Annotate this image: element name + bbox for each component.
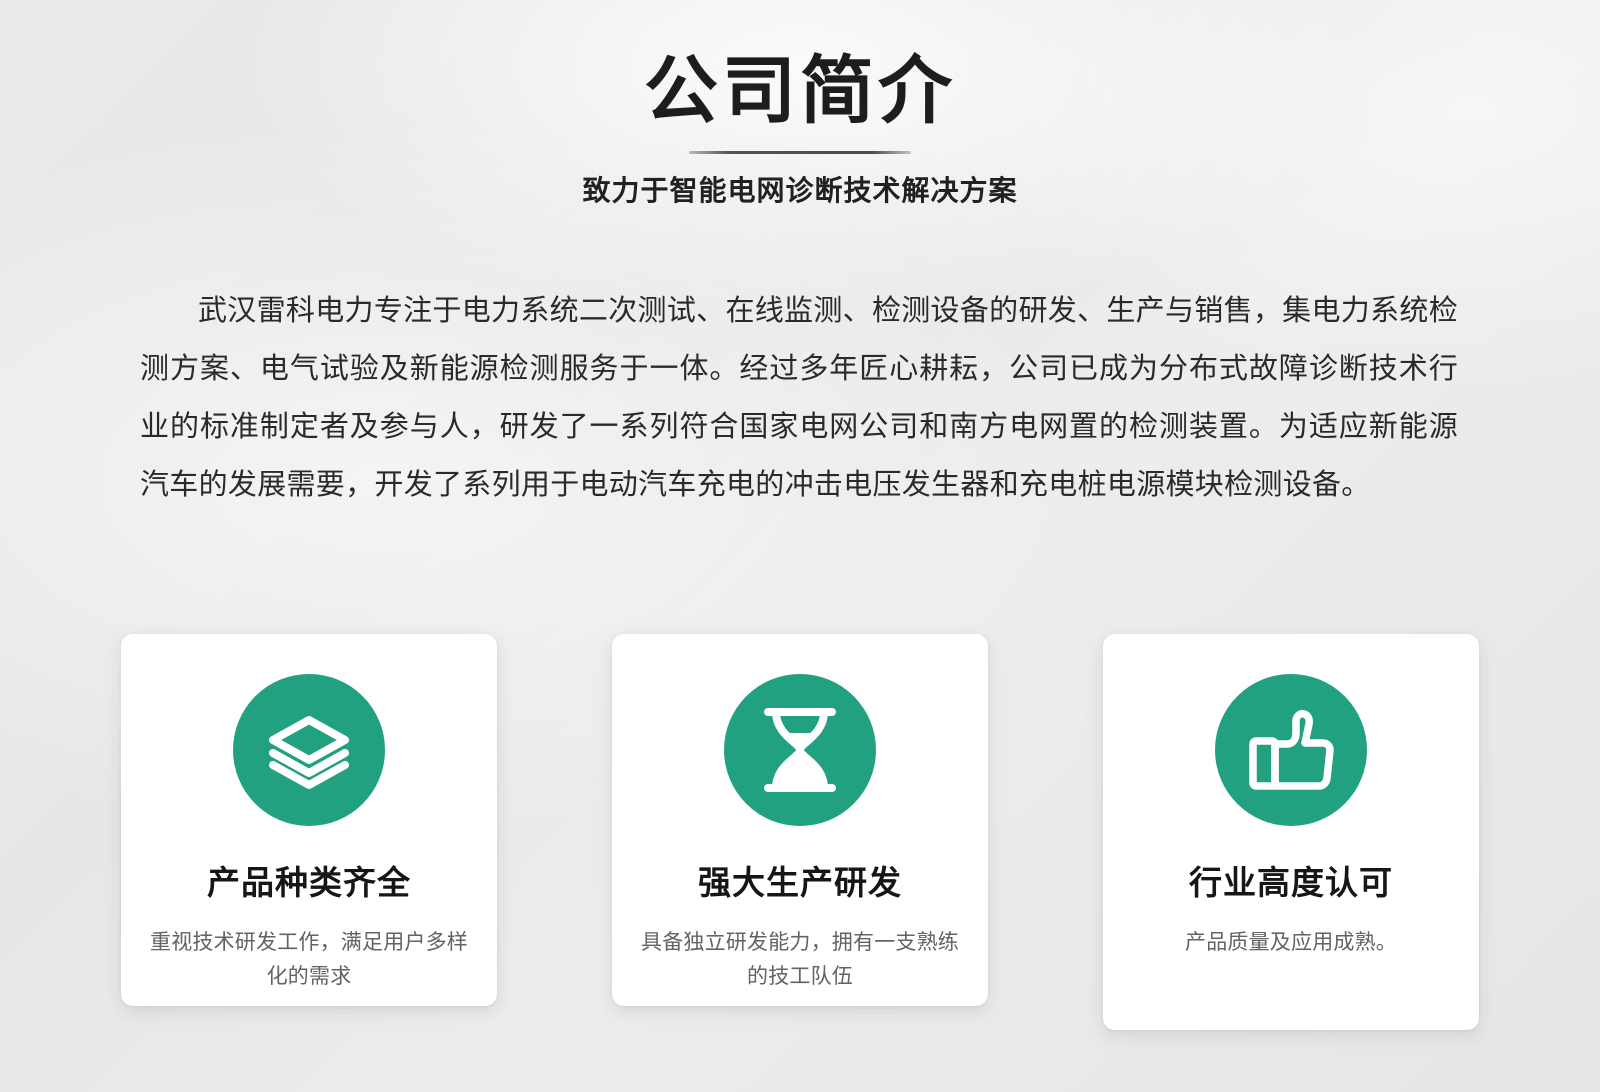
feature-card-product-range[interactable]: 产品种类齐全 重视技术研发工作，满足用户多样化的需求 bbox=[121, 634, 497, 1006]
icon-circle bbox=[724, 674, 876, 826]
feature-card-description: 具备独立研发能力，拥有一支熟练的技工队伍 bbox=[634, 904, 966, 994]
icon-circle bbox=[1215, 674, 1367, 826]
hourglass-icon bbox=[758, 705, 842, 795]
feature-card-title: 强大生产研发 bbox=[634, 826, 966, 904]
feature-card-industry-recognition[interactable]: 行业高度认可 产品质量及应用成熟。 bbox=[1103, 634, 1479, 1030]
feature-card-description: 产品质量及应用成熟。 bbox=[1125, 904, 1457, 960]
page-subtitle: 致力于智能电网诊断技术解决方案 bbox=[0, 154, 1600, 210]
thumbs-up-icon bbox=[1247, 708, 1335, 792]
layers-icon bbox=[266, 707, 352, 793]
page-header: 公司简介 致力于智能电网诊断技术解决方案 bbox=[0, 0, 1600, 210]
company-intro-paragraph: 武汉雷科电力专注于电力系统二次测试、在线监测、检测设备的研发、生产与销售，集电力… bbox=[140, 282, 1458, 514]
feature-card-list: 产品种类齐全 重视技术研发工作，满足用户多样化的需求 bbox=[121, 634, 1479, 1030]
page-title: 公司简介 bbox=[0, 0, 1600, 134]
feature-card-description: 重视技术研发工作，满足用户多样化的需求 bbox=[143, 904, 475, 994]
feature-card-title: 产品种类齐全 bbox=[143, 826, 475, 904]
icon-circle bbox=[233, 674, 385, 826]
page-root: 公司简介 致力于智能电网诊断技术解决方案 武汉雷科电力专注于电力系统二次测试、在… bbox=[0, 0, 1600, 1092]
feature-card-rnd-capability[interactable]: 强大生产研发 具备独立研发能力，拥有一支熟练的技工队伍 bbox=[612, 634, 988, 1006]
feature-card-title: 行业高度认可 bbox=[1125, 826, 1457, 904]
